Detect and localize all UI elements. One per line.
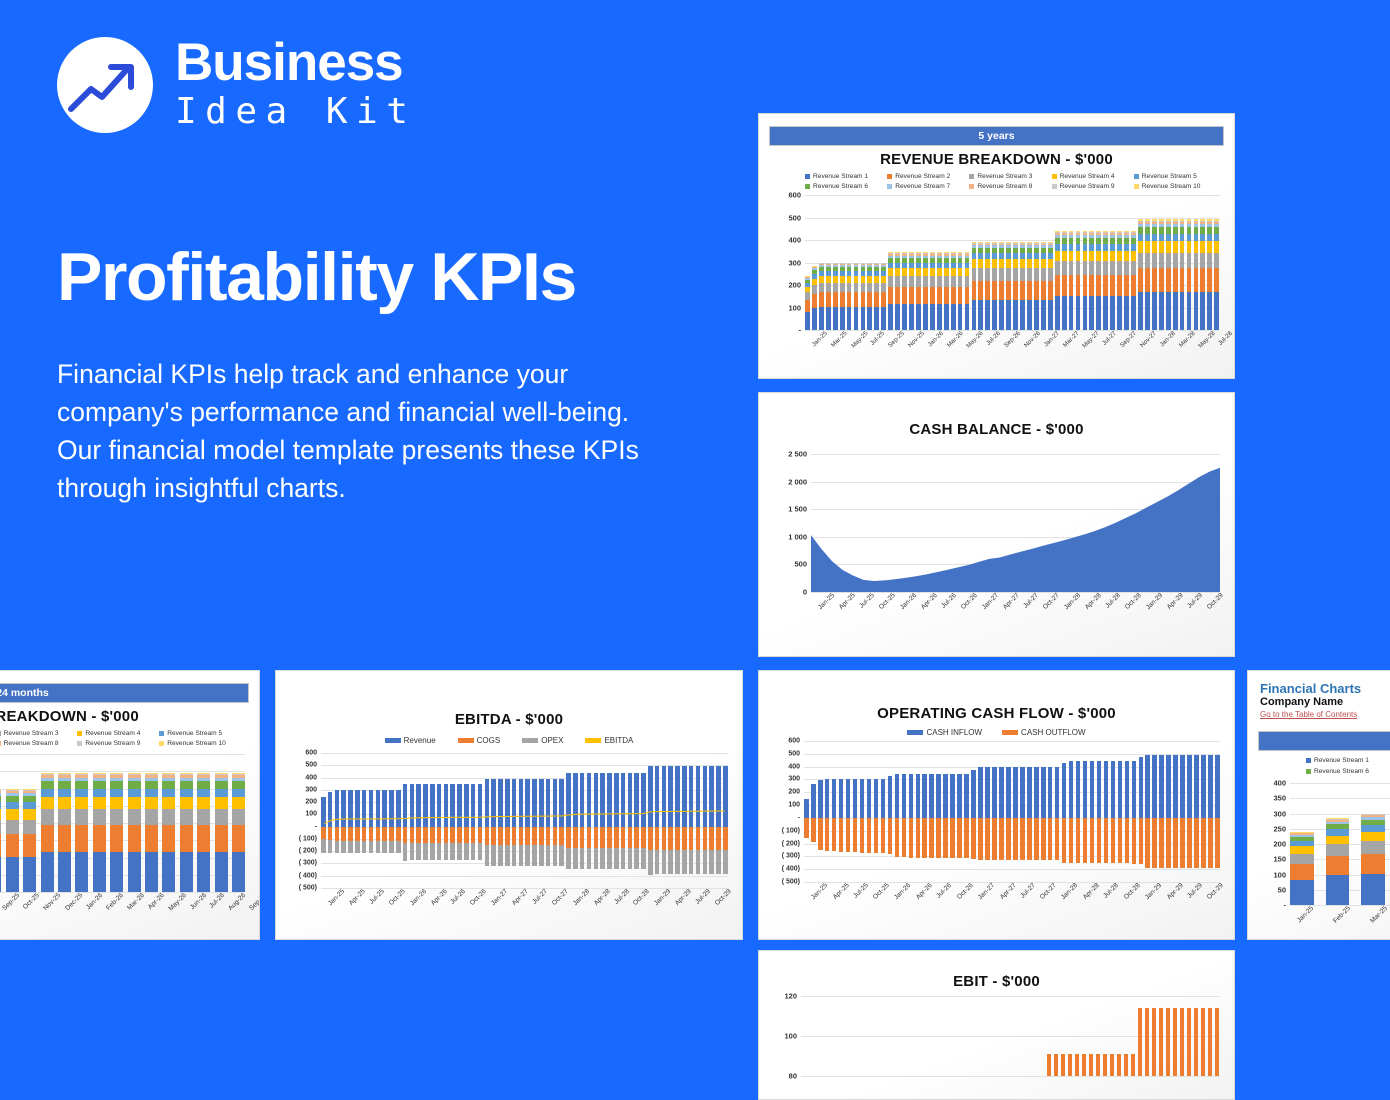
hero-description: Financial KPIs help track and enhance yo… [57, 355, 642, 508]
x-axis-tick: Apr-29 [1166, 592, 1185, 611]
y-axis-tick: 200 [788, 281, 801, 290]
bar-segment [1055, 261, 1060, 275]
card-operating-cash-flow[interactable]: OPERATING CASH FLOW - $'000 CASH INFLOWC… [758, 670, 1235, 940]
legend-swatch-icon [907, 730, 923, 735]
period-band-24-months: 24 months [0, 683, 249, 703]
bar-positive [1006, 767, 1011, 818]
brand-name-primary: Business [175, 36, 416, 90]
bar-segment [978, 300, 983, 330]
bar-segment [1110, 261, 1115, 275]
bar-segment [1194, 292, 1199, 330]
bar-segment [6, 820, 19, 834]
bar-segment [867, 283, 872, 292]
x-axis-tick: Apr-27 [998, 882, 1017, 901]
y-axis-tick: 2 000 [788, 477, 807, 486]
bar-column [864, 996, 868, 1076]
bar-column [854, 195, 859, 330]
bar-segment [128, 852, 141, 892]
bar-segment [58, 825, 71, 851]
bar-column [0, 754, 1, 892]
bar-segment [958, 268, 963, 276]
card-ebitda[interactable]: EBITDA - $'000 RevenueCOGSOPEXEBITDA 600… [275, 670, 743, 940]
bar-column [1118, 741, 1123, 882]
bar-column [822, 996, 826, 1076]
bar-segment [1096, 261, 1101, 275]
bar-segment [1214, 253, 1219, 268]
bar-column [1110, 195, 1115, 330]
bar-negative [1166, 818, 1171, 868]
bar-segment [1083, 244, 1088, 251]
bar-positive [1055, 767, 1060, 818]
legend-label: CASH INFLOW [926, 728, 982, 737]
y-axis-tick: ( 400) [782, 866, 800, 873]
x-axis-tick: Sep-26 [248, 892, 260, 912]
card-revenue-breakdown-5y[interactable]: 5 years REVENUE BREAKDOWN - $'000 Revenu… [758, 113, 1235, 379]
bar [1145, 1008, 1149, 1076]
bar-column [1194, 195, 1199, 330]
chart-title-ebitda: EBITDA - $'000 [276, 711, 742, 728]
bar-segment [1180, 241, 1185, 252]
bar-segment [923, 287, 928, 304]
legend-label: COGS [477, 736, 501, 745]
legend-label: Revenue Stream 6 [1314, 768, 1369, 775]
bar-segment [1131, 261, 1136, 275]
bar-segment [6, 809, 19, 819]
bar-segment [1290, 880, 1314, 905]
bar-segment [1166, 268, 1171, 292]
bar-segment [958, 287, 963, 304]
y-axis-tick: ( 200) [782, 840, 800, 847]
card-cash-balance[interactable]: CASH BALANCE - $'000 2 5002 0001 5001 00… [758, 392, 1235, 657]
bar-negative [1208, 818, 1213, 868]
bar-negative [902, 818, 907, 857]
bar-segment [847, 307, 852, 330]
bar-column [920, 996, 924, 1076]
bar-negative [1139, 818, 1144, 864]
bar-segment [6, 802, 19, 809]
bar-column [818, 741, 823, 882]
bar-column [902, 741, 907, 882]
legend-swatch-icon [522, 738, 538, 743]
legend-item: CASH INFLOW [907, 728, 982, 737]
y-axis-tick: 0 [803, 588, 807, 597]
bar-negative [895, 818, 900, 857]
bar-column [1326, 783, 1350, 905]
bar-positive [1173, 755, 1178, 818]
bar-segment [58, 852, 71, 892]
x-axis-tick: Oct-29 [1206, 592, 1225, 611]
x-axis-tick: Sep-27 [1119, 330, 1138, 349]
x-axis-tick: Oct-28 [632, 888, 651, 907]
bar-negative [1201, 818, 1206, 868]
bar [1187, 1008, 1191, 1076]
x-axis-tick: Oct-29 [1206, 882, 1225, 901]
bar-segment [1145, 227, 1150, 234]
legend-swatch-icon [458, 738, 474, 743]
bar-segment [215, 852, 228, 892]
bar-negative [818, 818, 823, 850]
bar-positive [950, 774, 955, 818]
bar-segment [1214, 292, 1219, 330]
x-axis-tick: Jul-29 [1186, 882, 1204, 900]
bar-segment [965, 276, 970, 287]
bar-column [1004, 996, 1008, 1076]
bar-column [1166, 996, 1170, 1076]
bar-segment [1200, 253, 1205, 268]
bar-segment [805, 300, 810, 312]
bar-segment [6, 857, 19, 892]
bar-segment [145, 781, 158, 788]
x-axis-tick: Apr-28 [1084, 592, 1103, 611]
y-axis-tick: 400 [788, 763, 800, 770]
bar-segment [1326, 844, 1350, 856]
bar-negative [846, 818, 851, 852]
bar-segment [1361, 832, 1385, 841]
legend-swatch-icon [1306, 769, 1311, 774]
bar-column [1207, 195, 1212, 330]
legend-swatch-icon [385, 738, 401, 743]
bar-column [75, 754, 88, 892]
bar-segment [854, 283, 859, 292]
bar-positive [1048, 767, 1053, 818]
bar-column [180, 754, 193, 892]
bar-column [58, 754, 71, 892]
bar-segment [232, 809, 245, 826]
x-axis-tick: Jul-27 [531, 888, 549, 906]
bar-positive [1152, 755, 1157, 818]
x-axis-tick: Oct-27 [551, 888, 570, 907]
bar-column [964, 741, 969, 882]
bar-column [958, 195, 963, 330]
y-axis-tick: 80 [789, 1072, 797, 1081]
bar-segment [951, 276, 956, 287]
bar-segment [1117, 296, 1122, 330]
bar-segment [812, 308, 817, 330]
bar-negative [1020, 818, 1025, 860]
bar-segment [1214, 241, 1219, 252]
bar-segment [215, 789, 228, 797]
bar-column [110, 754, 123, 892]
bar-segment [826, 283, 831, 292]
x-axis-tick: May-27 [1081, 330, 1101, 350]
bar [1110, 1054, 1114, 1076]
x-axis-tick: May-25 [850, 330, 870, 350]
bar-column [6, 754, 19, 892]
bar-segment [985, 268, 990, 280]
bar-segment [895, 268, 900, 276]
bar-negative [1180, 818, 1185, 868]
bar-segment [1027, 259, 1032, 268]
x-axis-tick: Mar-27 [1062, 330, 1081, 349]
bar-series [805, 195, 1220, 330]
bar-segment [1006, 281, 1011, 300]
bar-segment [1152, 234, 1157, 242]
plot-ebitda: 600500400300200100-( 100)( 200)( 300)( 4… [321, 753, 728, 888]
bar-segment [180, 825, 193, 851]
y-axis-tick: ( 100) [782, 827, 800, 834]
chart-title-revenue-breakdown-24m: REVENUE BREAKDOWN - $'000 [0, 708, 259, 725]
x-axis-tick: Jan-27 [490, 888, 509, 907]
y-axis-tick: 200 [305, 799, 317, 806]
legend-label: Revenue Stream 9 [85, 740, 140, 747]
bar [1166, 1008, 1170, 1076]
bar-segment [145, 797, 158, 809]
bar-negative [874, 818, 879, 853]
bar-column [1187, 195, 1192, 330]
bar-column [899, 996, 903, 1076]
bar-segment [1110, 296, 1115, 330]
bar-segment [867, 292, 872, 307]
bar-segment [128, 797, 141, 809]
bar-segment [1013, 300, 1018, 330]
bar-column [1076, 195, 1081, 330]
bar-column [881, 741, 886, 882]
x-axis-tick: Jul-25 [869, 330, 886, 347]
bar-segment [909, 276, 914, 287]
bar-column [1180, 741, 1185, 882]
bar-segment [1034, 268, 1039, 280]
bar-segment [197, 789, 210, 797]
bar-column [1104, 741, 1109, 882]
bar-negative [1048, 818, 1053, 860]
bar-segment [881, 283, 886, 292]
x-axis-tick: Apr-28 [593, 888, 612, 907]
x-axis: Jan-25Apr-25Jul-25Oct-25Jan-26Apr-26Jul-… [811, 592, 1220, 599]
bar-column [1033, 996, 1037, 1076]
bar-column [1132, 741, 1137, 882]
bar-series [0, 754, 245, 892]
bar-column [804, 741, 809, 882]
legend-item: Revenue Stream 4 [77, 730, 159, 737]
bar-column [1089, 195, 1094, 330]
bar-column [999, 741, 1004, 882]
bar-column [888, 195, 893, 330]
y-axis-tick: - [799, 326, 802, 335]
bar-segment [1096, 296, 1101, 330]
bar-negative [1083, 818, 1088, 863]
bar-segment [0, 802, 1, 809]
bar-column [895, 195, 900, 330]
bar [1201, 1008, 1205, 1076]
bar-column [1187, 996, 1191, 1076]
bar-segment [1152, 253, 1157, 268]
bar [1075, 1054, 1079, 1076]
bar-segment [215, 797, 228, 809]
table-of-contents-link[interactable]: Go to the Table of Contents [1260, 710, 1390, 719]
bar-column [1208, 996, 1212, 1076]
bar-column [215, 754, 228, 892]
bar-segment [1076, 275, 1081, 297]
bar-segment [1041, 300, 1046, 330]
bar-segment [1187, 268, 1192, 292]
x-axis-tick: Apr-25 [838, 592, 857, 611]
bar-segment [197, 852, 210, 892]
bar-segment [1124, 244, 1129, 251]
x-axis-tick: Mar-25 [830, 330, 849, 349]
bar-segment [909, 304, 914, 330]
bar-segment [1207, 227, 1212, 234]
bar-column [1145, 996, 1149, 1076]
bar-column [892, 996, 896, 1076]
bar-segment [985, 281, 990, 300]
bar-column [992, 741, 997, 882]
x-axis-tick: Sep-25 [887, 330, 906, 349]
bar-segment [1361, 874, 1385, 905]
bar-segment [1207, 292, 1212, 330]
bar-segment [895, 304, 900, 330]
card-revenue-breakdown-24m[interactable]: 24 months REVENUE BREAKDOWN - $'000 Reve… [0, 670, 260, 940]
bar-positive [929, 774, 934, 818]
bar-segment [1290, 854, 1314, 864]
bar-column [1103, 996, 1107, 1076]
bar-column [1011, 996, 1015, 1076]
bar-negative [985, 818, 990, 860]
bar-negative [929, 818, 934, 858]
bar-negative [943, 818, 948, 858]
bar-segment [861, 276, 866, 283]
bar-positive [1041, 767, 1046, 818]
y-axis-tick: 500 [788, 213, 801, 222]
bar-negative [950, 818, 955, 858]
bar-segment [1145, 241, 1150, 252]
bar-negative [1090, 818, 1095, 863]
bar-segment [1187, 253, 1192, 268]
bar-segment [1138, 234, 1143, 242]
bar-positive [936, 774, 941, 818]
x-axis-tick: Apr-26 [920, 592, 939, 611]
legend-item: CASH OUTFLOW [1002, 728, 1085, 737]
y-axis-tick: 120 [784, 992, 797, 1001]
bar-segment [1200, 241, 1205, 252]
bar-segment [1166, 253, 1171, 268]
bar-segment [1200, 292, 1205, 330]
bar-column [819, 195, 824, 330]
bar-segment [888, 268, 893, 276]
bar-column [1173, 741, 1178, 882]
bar-segment [972, 281, 977, 300]
x-axis-tick: Oct-27 [1039, 882, 1058, 901]
y-axis-tick: 500 [305, 762, 317, 769]
x-axis-tick: Sep-26 [1003, 330, 1022, 349]
bar-positive [1139, 757, 1144, 818]
bar-segment [180, 797, 193, 809]
legend-item: Revenue Stream 9 [1052, 183, 1134, 190]
period-band-5-years: 5 years [769, 126, 1224, 146]
y-axis-tick: ( 300) [782, 853, 800, 860]
bar-column [1124, 996, 1128, 1076]
bar-segment [1013, 259, 1018, 268]
legend-swatch-icon [159, 741, 164, 746]
bar-segment [992, 300, 997, 330]
panel-title: Financial Charts [1260, 681, 1390, 696]
bar-column [978, 741, 983, 882]
y-axis-tick: 600 [788, 191, 801, 200]
y-axis-tick: 2 500 [788, 450, 807, 459]
legend-swatch-icon [805, 174, 810, 179]
bar-segment [1159, 292, 1164, 330]
bar-column [1034, 741, 1039, 882]
legend-ebitda: RevenueCOGSOPEXEBITDA [276, 736, 742, 745]
bar-column [811, 741, 816, 882]
bar-positive [1208, 755, 1213, 818]
bar-column [1034, 195, 1039, 330]
bar-column [944, 195, 949, 330]
bar-column [874, 741, 879, 882]
bar-column [1200, 195, 1205, 330]
bar [1152, 1008, 1156, 1076]
plot-ebit: 12010080 [801, 996, 1220, 1076]
bar-negative [1069, 818, 1074, 863]
bar-column [1020, 741, 1025, 882]
bar-column [1041, 741, 1046, 882]
bar-positive [1090, 761, 1095, 818]
bar-segment [1076, 261, 1081, 275]
bar-segment [41, 789, 54, 797]
bar-column [1290, 783, 1314, 905]
bar-negative [825, 818, 830, 851]
bar-segment [1103, 244, 1108, 251]
bar-column [969, 996, 973, 1076]
card-financial-charts-panel[interactable]: Financial Charts Company Name Go to the … [1247, 670, 1390, 940]
bar-segment [999, 259, 1004, 268]
plot-cash-balance: 2 5002 0001 5001 0005000Jan-25Apr-25Jul-… [811, 454, 1220, 592]
bar-segment [944, 276, 949, 287]
y-axis-tick: 250 [1273, 824, 1286, 833]
bar-column [860, 741, 865, 882]
bar-positive [971, 770, 976, 818]
bar-segment [1089, 244, 1094, 251]
bar-column [955, 996, 959, 1076]
legend-revenue-streams-24m: Revenue Stream 1Revenue Stream 2Revenue … [0, 730, 241, 750]
bar-segment [1034, 300, 1039, 330]
legend-revenue-streams: Revenue Stream 1Revenue Stream 2Revenue … [805, 173, 1216, 193]
bar-segment [23, 809, 36, 819]
bar-column [1214, 195, 1219, 330]
bar-segment [930, 287, 935, 304]
bar-column [1173, 195, 1178, 330]
bar-column [1180, 195, 1185, 330]
bar-positive [839, 779, 844, 818]
bar-segment [867, 276, 872, 283]
card-ebit[interactable]: EBIT - $'000 12010080 [758, 950, 1235, 1100]
legend-label: Revenue Stream 10 [1142, 183, 1201, 190]
x-axis-tick: Jan-29 [1144, 882, 1163, 901]
bar-segment [874, 292, 879, 307]
bar-segment [1055, 296, 1060, 330]
legend-revenue-streams-right: Revenue Stream 1Revenue Stream 2Revenue … [1306, 757, 1390, 779]
bar-positive [804, 799, 809, 818]
bar-column [1131, 195, 1136, 330]
bar-positive [999, 767, 1004, 818]
bar-segment [1145, 292, 1150, 330]
x-axis-tick: Jul-27 [1019, 882, 1037, 900]
bar-negative [1041, 818, 1046, 860]
bar [1131, 1054, 1135, 1076]
bar-column [197, 754, 210, 892]
legend-label: Revenue Stream 8 [4, 740, 59, 747]
y-axis-tick: 400 [305, 774, 317, 781]
x-axis-tick: Jan-28 [572, 888, 591, 907]
bar-segment [0, 809, 1, 819]
bar-segment [23, 802, 36, 809]
x-axis-tick: May-26 [167, 892, 188, 913]
bar-segment [145, 825, 158, 851]
bar-segment [1290, 864, 1314, 880]
bar-positive [922, 774, 927, 818]
legend-label: Revenue Stream 5 [1142, 173, 1197, 180]
bar-segment [1055, 275, 1060, 297]
bar-segment [1361, 854, 1385, 874]
